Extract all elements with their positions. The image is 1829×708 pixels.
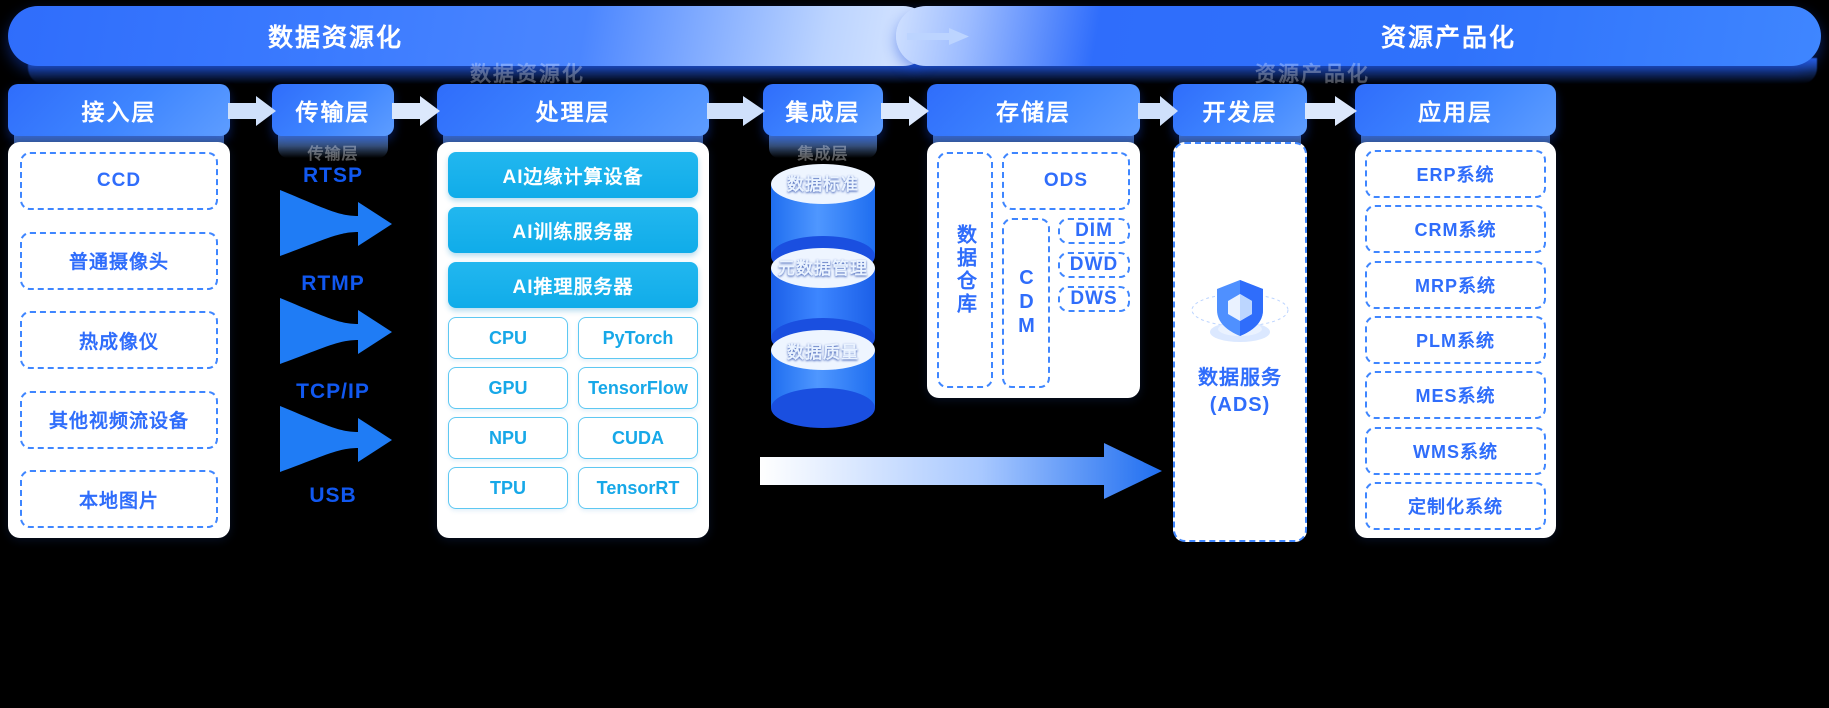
column-integration-layer: 集成层 集成层 [763, 84, 883, 142]
column-title-transmission: 传输层 [296, 93, 371, 127]
banner-data-resourcing: 数据资源化 [8, 6, 933, 66]
column-transmission-layer: 传输层 传输层 [272, 84, 394, 142]
integration-label-data-standard: 数据标准 [763, 170, 883, 195]
column-title-storage: 存储层 [996, 93, 1071, 127]
processing-hw-gpu[interactable]: GPU [448, 367, 568, 409]
connector-arrow-dev-app [1305, 96, 1357, 126]
column-storage-layer: 存储层 存储层 数据仓库 ODS CDM DIM DWD DWS [927, 84, 1140, 398]
connector-arrow-processing-integration [707, 96, 765, 126]
processing-fw-tensorrt[interactable]: TensorRT [578, 467, 698, 509]
column-application-layer: 应用层 应用层 ERP系统 CRM系统 MRP系统 PLM系统 MES系统 WM… [1355, 84, 1556, 538]
storage-dws[interactable]: DWS [1058, 286, 1130, 312]
access-item-local-image[interactable]: 本地图片 [20, 470, 218, 528]
banner-resource-productization: 资源产品化 [896, 6, 1821, 66]
transmission-tcpip: TCP/IP [272, 380, 394, 481]
processing-hw-tpu[interactable]: TPU [448, 467, 568, 509]
column-header-processing[interactable]: 处理层 [437, 84, 709, 136]
processing-inference-server[interactable]: AI推理服务器 [448, 262, 698, 308]
storage-dim[interactable]: DIM [1058, 218, 1130, 244]
connector-arrow-integration-storage [881, 96, 929, 126]
tapered-arrow-icon [272, 402, 394, 476]
column-body-processing: AI边缘计算设备 AI训练服务器 AI推理服务器 CPU PyTorch GPU… [437, 142, 709, 538]
diagram-canvas: 数据资源化 资源产品化 数据资源化 资源产品化 接入层 接入层 CCD [0, 0, 1829, 708]
storage-sub-group: CDM DIM DWD DWS [1002, 218, 1130, 388]
access-item-camera[interactable]: 普通摄像头 [20, 232, 218, 290]
column-access-layer: 接入层 接入层 CCD 普通摄像头 热成像仪 其他视频流设备 本地图片 [8, 84, 230, 538]
processing-fw-tensorflow[interactable]: TensorFlow [578, 367, 698, 409]
column-title-access: 接入层 [82, 93, 157, 127]
integration-label-data-quality: 数据质量 [763, 338, 883, 363]
app-item-erp[interactable]: ERP系统 [1365, 150, 1546, 198]
shield-cube-icon [1185, 266, 1295, 356]
connector-arrow-access-transmission [228, 96, 276, 126]
arrow-right-icon [907, 28, 969, 45]
storage-data-warehouse[interactable]: 数据仓库 [937, 152, 993, 388]
storage-ods[interactable]: ODS [1002, 152, 1130, 210]
column-body-app: ERP系统 CRM系统 MRP系统 PLM系统 MES系统 WMS系统 定制化系… [1355, 142, 1556, 538]
processing-fw-cuda[interactable]: CUDA [578, 417, 698, 459]
transmission-label-usb: USB [272, 484, 394, 508]
app-item-mrp[interactable]: MRP系统 [1365, 261, 1546, 309]
transmission-label-tcpip: TCP/IP [272, 380, 394, 404]
ghost-sub-transmission: 传输层 [272, 140, 394, 164]
access-item-thermal[interactable]: 热成像仪 [20, 311, 218, 369]
column-header-integration[interactable]: 集成层 [763, 84, 883, 136]
processing-hw-npu[interactable]: NPU [448, 417, 568, 459]
column-header-transmission[interactable]: 传输层 [272, 84, 394, 136]
processing-training-server[interactable]: AI训练服务器 [448, 207, 698, 253]
data-flow-arrow-icon [760, 443, 1162, 499]
app-item-crm[interactable]: CRM系统 [1365, 205, 1546, 253]
column-title-integration: 集成层 [786, 93, 861, 127]
app-item-mes[interactable]: MES系统 [1365, 371, 1546, 419]
storage-right-group: ODS CDM DIM DWD DWS [1002, 152, 1130, 388]
processing-stack-grid: CPU PyTorch GPU TensorFlow NPU CUDA TPU … [448, 317, 698, 509]
transmission-usb: USB [272, 484, 394, 508]
dev-service-code: (ADS) [1210, 393, 1271, 418]
dev-service-name: 数据服务 [1198, 366, 1282, 391]
storage-cdm[interactable]: CDM [1002, 218, 1050, 388]
column-header-app[interactable]: 应用层 [1355, 84, 1556, 136]
column-body-storage: 数据仓库 ODS CDM DIM DWD DWS [927, 142, 1140, 398]
connector-arrow-storage-dev [1138, 96, 1178, 126]
app-item-plm[interactable]: PLM系统 [1365, 316, 1546, 364]
integration-cylinder-stack: 数据标准 元数据管理 数据质量 [763, 148, 883, 428]
column-header-dev[interactable]: 开发层 [1173, 84, 1307, 136]
transmission-rtsp: RTSP [272, 164, 394, 265]
banner-right-label: 资源产品化 [1381, 18, 1516, 54]
column-body-dev: 数据服务 (ADS) [1173, 142, 1307, 538]
connector-arrow-transmission-processing [392, 96, 440, 126]
banner-left-label: 数据资源化 [268, 18, 403, 54]
processing-hw-cpu[interactable]: CPU [448, 317, 568, 359]
transmission-label-rtmp: RTMP [272, 272, 394, 296]
tapered-arrow-icon [272, 186, 394, 260]
access-item-ccd[interactable]: CCD [20, 152, 218, 210]
processing-fw-pytorch[interactable]: PyTorch [578, 317, 698, 359]
access-item-other-video[interactable]: 其他视频流设备 [20, 391, 218, 449]
processing-edge-device[interactable]: AI边缘计算设备 [448, 152, 698, 198]
dev-service-panel[interactable]: 数据服务 (ADS) [1173, 142, 1307, 542]
column-body-access: CCD 普通摄像头 热成像仪 其他视频流设备 本地图片 [8, 142, 230, 538]
column-development-layer: 开发层 开发层 数据服务 (ADS) [1173, 84, 1307, 538]
column-header-access[interactable]: 接入层 [8, 84, 230, 136]
column-title-processing: 处理层 [536, 93, 611, 127]
column-processing-layer: 处理层 处理层 AI边缘计算设备 AI训练服务器 AI推理服务器 CPU PyT… [437, 84, 709, 538]
transmission-label-rtsp: RTSP [272, 164, 394, 188]
integration-label-metadata: 元数据管理 [763, 254, 883, 279]
app-item-wms[interactable]: WMS系统 [1365, 427, 1546, 475]
top-banner-row: 数据资源化 资源产品化 [8, 6, 1821, 66]
tapered-arrow-icon [272, 294, 394, 368]
storage-model-column: DIM DWD DWS [1058, 218, 1130, 388]
storage-dwd[interactable]: DWD [1058, 252, 1130, 278]
column-header-storage[interactable]: 存储层 [927, 84, 1140, 136]
transmission-rtmp: RTMP [272, 272, 394, 373]
column-title-dev: 开发层 [1203, 93, 1278, 127]
column-title-app: 应用层 [1418, 93, 1493, 127]
ghost-sub-integration: 集成层 [763, 140, 883, 164]
app-item-custom[interactable]: 定制化系统 [1365, 482, 1546, 530]
